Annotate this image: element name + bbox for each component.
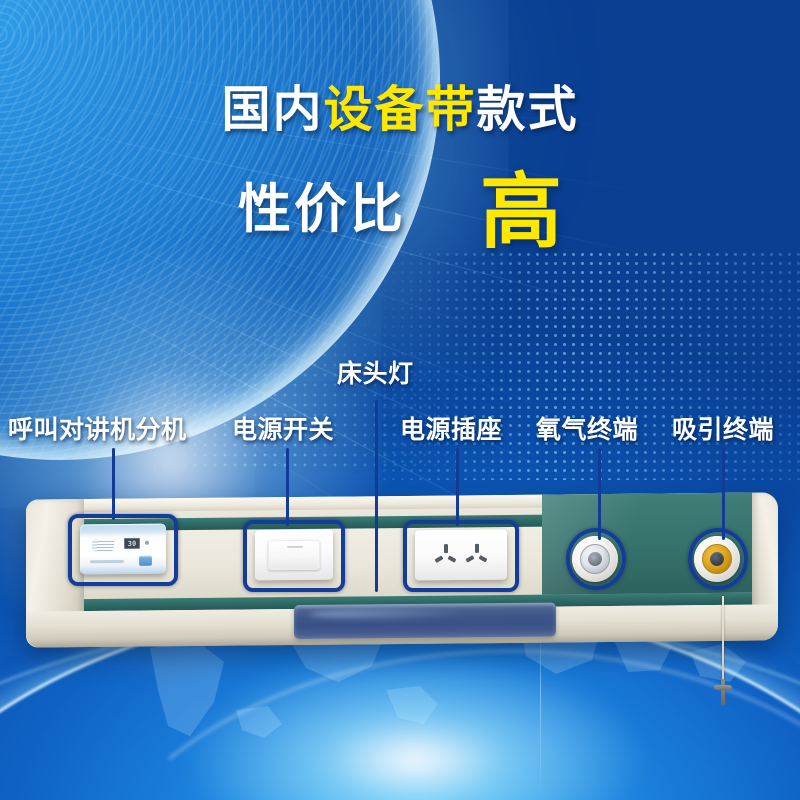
- leader-line-power-socket: [456, 448, 459, 526]
- product-banner: 国内设备带款式 性价比 高 30: [0, 0, 800, 800]
- callout-bed-lamp: 床头灯: [337, 362, 414, 387]
- leader-line-power-switch: [286, 448, 289, 526]
- leader-line-bed-lamp: [375, 400, 378, 592]
- callout-suction-terminal: 吸引终端: [672, 418, 774, 443]
- callout-oxygen-terminal: 氧气终端: [536, 418, 638, 443]
- callout-layer: 呼叫对讲机分机 电源开关 床头灯 电源插座 氧气终端 吸引终端: [0, 0, 800, 800]
- callout-intercom: 呼叫对讲机分机: [8, 418, 187, 443]
- leader-line-suction: [722, 448, 725, 540]
- callout-power-socket: 电源插座: [400, 418, 502, 443]
- callout-power-switch: 电源开关: [232, 418, 334, 443]
- leader-line-intercom: [112, 448, 115, 520]
- leader-line-oxygen: [598, 448, 601, 540]
